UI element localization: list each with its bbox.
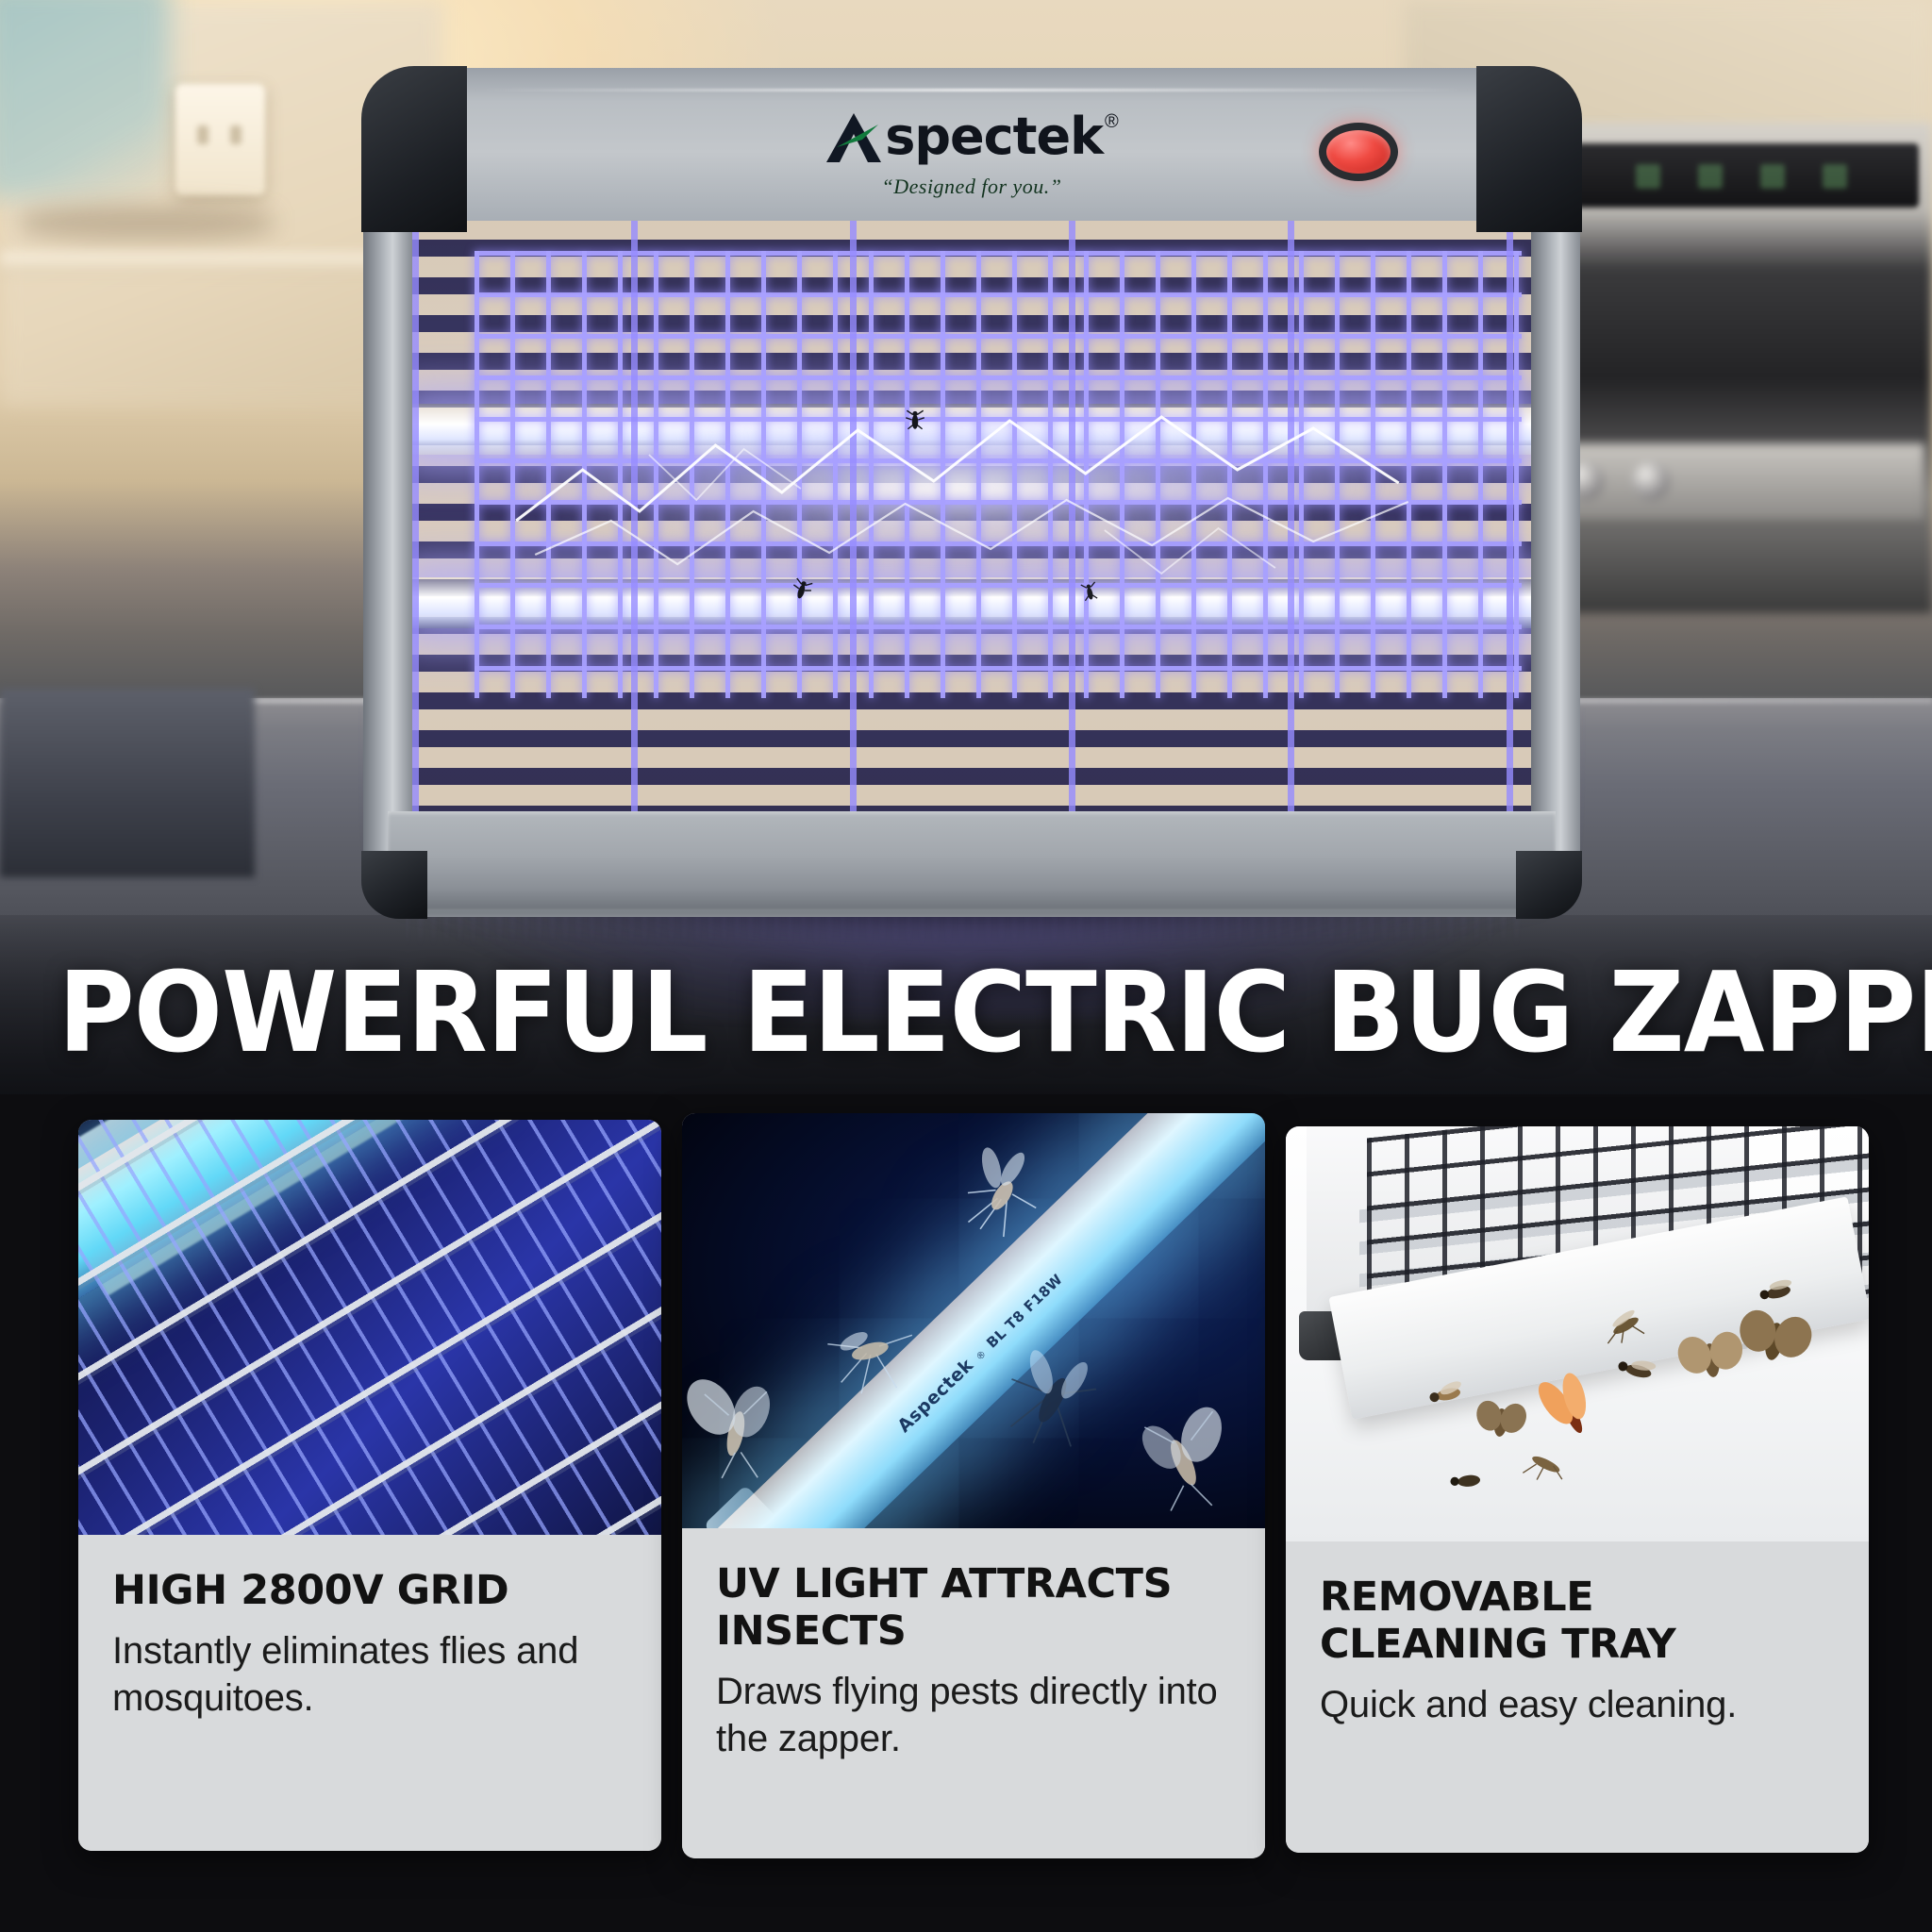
insect-mosquito-on-tube [982, 1341, 1119, 1471]
feature-thumbnail-cleaning-tray [1286, 1126, 1869, 1541]
card-description: Draws flying pests directly into the zap… [716, 1668, 1231, 1762]
device-side-rail-right [1531, 181, 1580, 860]
device-side-rail-left [363, 181, 412, 860]
electric-arc [497, 379, 1446, 606]
aspectek-logo-icon [824, 111, 883, 164]
feature-card-cleaning-tray[interactable]: REMOVABLE CLEANING TRAY Quick and easy c… [1286, 1126, 1869, 1853]
feature-card-uv-light[interactable]: Aspectek ® BL T8 F18W [682, 1113, 1265, 1858]
feature-card-high-voltage-grid[interactable]: HIGH 2800V GRID Instantly eliminates fli… [78, 1120, 661, 1851]
card-title: REMOVABLE CLEANING TRAY [1320, 1574, 1835, 1668]
insect-on-grid [903, 408, 927, 432]
brand-registered-mark: ® [1105, 111, 1119, 132]
product-marketing-image: spectek ® “Designed for you.” POWERFUL E… [0, 0, 1932, 1932]
dead-insect-mosquito [1514, 1438, 1575, 1488]
insect-mosquito [809, 1306, 931, 1407]
insect-moth [1114, 1387, 1256, 1524]
card-description: Instantly eliminates flies and mosquitoe… [112, 1627, 627, 1722]
zapper-grid-cavity [412, 219, 1531, 811]
kitchen-wall-accent [0, 0, 170, 198]
feature-thumbnail-grid-closeup [78, 1120, 661, 1535]
brand-tagline: “Designed for you.” [371, 175, 1573, 199]
bug-zapper-device: spectek ® “Designed for you.” [363, 68, 1580, 917]
corner-cap-bottom-left [361, 851, 427, 919]
corner-cap-bottom-right [1516, 851, 1582, 919]
card-description: Quick and easy cleaning. [1320, 1681, 1835, 1728]
corner-cap-top-right [1476, 66, 1582, 232]
page-headline: POWERFUL ELECTRIC BUG ZAPPER [58, 955, 1874, 1070]
brand-name: spectek [885, 111, 1103, 162]
feature-thumbnail-uv-tube-insects: Aspectek ® BL T8 F18W [682, 1113, 1265, 1528]
power-indicator-icon[interactable] [1319, 123, 1398, 181]
card-title: UV LIGHT ATTRACTS INSECTS [716, 1560, 1231, 1655]
wall-outlet [175, 84, 265, 195]
corner-cap-top-left [361, 66, 467, 232]
counter-left-cabinet [0, 689, 255, 877]
range-control-panel [1523, 143, 1919, 208]
insect-on-grid [1075, 577, 1105, 607]
card-text-block: UV LIGHT ATTRACTS INSECTS Draws flying p… [682, 1528, 1265, 1858]
device-faceplate: spectek ® “Designed for you.” [371, 68, 1573, 221]
insect-moth [682, 1357, 797, 1488]
device-base-bar [388, 811, 1556, 909]
grid-metal-rods [78, 1120, 661, 1535]
card-text-block: REMOVABLE CLEANING TRAY Quick and easy c… [1286, 1541, 1869, 1853]
dead-insect-moth [1473, 1397, 1529, 1444]
wall-shadow [19, 206, 274, 240]
card-text-block: HIGH 2800V GRID Instantly eliminates fli… [78, 1535, 661, 1851]
dead-insect-fly [1445, 1464, 1490, 1496]
feature-cards: HIGH 2800V GRID Instantly eliminates fli… [0, 1085, 1932, 1932]
card-title: HIGH 2800V GRID [112, 1567, 627, 1614]
hero-section: spectek ® “Designed for you.” POWERFUL E… [0, 0, 1932, 1094]
